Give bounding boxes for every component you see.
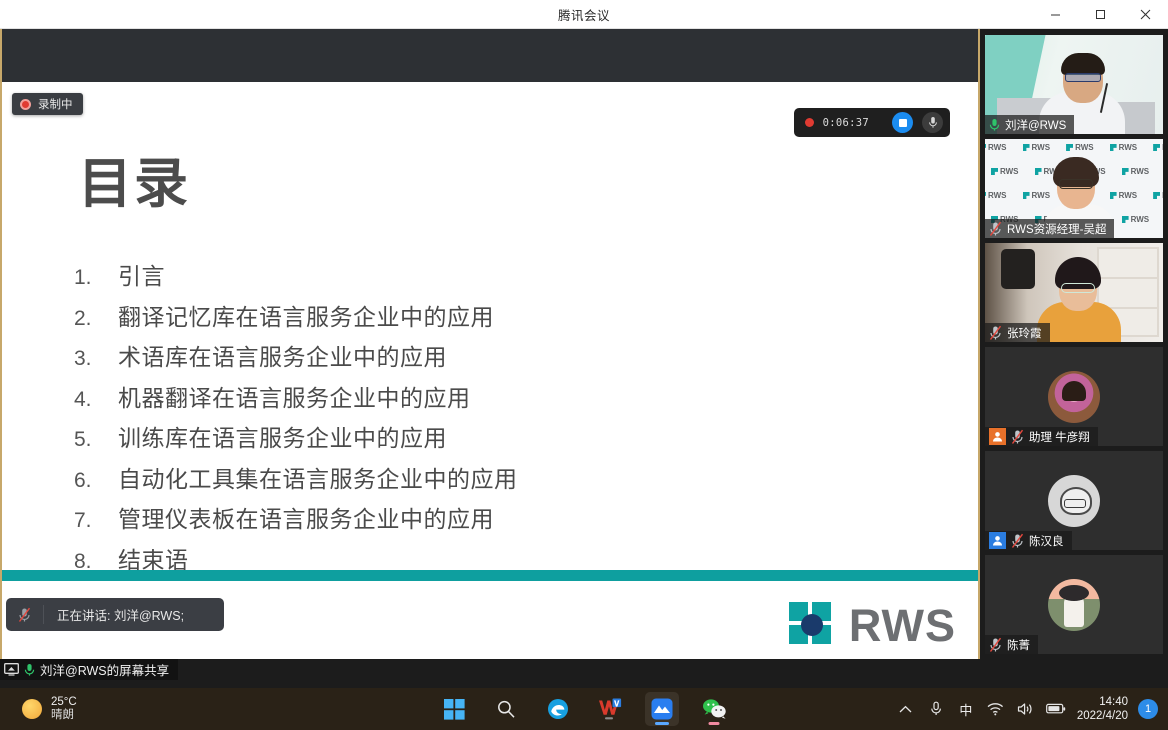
- windows-taskbar[interactable]: 25°C 晴朗: [0, 688, 1168, 730]
- minimize-icon: [1050, 9, 1061, 20]
- wps-button[interactable]: [593, 692, 627, 726]
- wifi-button[interactable]: [981, 688, 1011, 730]
- participant-namebar: 陈汉良: [985, 531, 1072, 550]
- edge-icon: [547, 698, 569, 720]
- minimize-button[interactable]: [1033, 0, 1078, 29]
- participant-tile[interactable]: 助理 牛彦翔: [985, 347, 1163, 446]
- close-icon: [1140, 9, 1151, 20]
- mic-muted-icon: [6, 605, 44, 624]
- tencent-meeting-icon: [650, 697, 674, 721]
- weather-condition: 晴朗: [51, 709, 77, 722]
- mic-muted-icon: [989, 221, 1002, 237]
- participant-namebar: 刘洋@RWS: [985, 115, 1074, 134]
- recorder-microphone-button[interactable]: [922, 112, 943, 133]
- clock[interactable]: 14:40 2022/4/20: [1071, 695, 1138, 723]
- microphone-icon: [930, 701, 942, 717]
- wechat-icon: [702, 698, 727, 720]
- participant-name: 陈汉良: [1029, 533, 1064, 549]
- tencent-meeting-button[interactable]: [645, 692, 679, 726]
- window-title-bar: 腾讯会议: [0, 0, 1168, 29]
- taskbar-apps[interactable]: [437, 692, 731, 726]
- screen-share-icon: [4, 663, 19, 676]
- clock-date: 2022/4/20: [1077, 709, 1128, 723]
- participant-name: 陈菁: [1007, 637, 1030, 653]
- recording-badge-label: 录制中: [38, 96, 73, 112]
- close-button[interactable]: [1123, 0, 1168, 29]
- windows-logo-icon: [444, 699, 465, 720]
- host-badge-icon: [989, 428, 1006, 445]
- participant-name: RWS资源经理-吴超: [1007, 221, 1106, 237]
- cohost-badge-icon: [989, 532, 1006, 549]
- participant-name: 助理 牛彦翔: [1029, 429, 1090, 445]
- participant-tile[interactable]: 张玲霞: [985, 243, 1163, 342]
- recording-dot-icon: [20, 99, 31, 110]
- system-tray[interactable]: 中 14:40 2022/4/20: [891, 688, 1168, 730]
- mic-muted-icon: [1011, 533, 1024, 549]
- mic-muted-icon: [989, 325, 1002, 341]
- search-button[interactable]: [489, 692, 523, 726]
- mic-muted-icon: [1011, 429, 1024, 445]
- avatar: [1048, 579, 1100, 631]
- maximize-button[interactable]: [1078, 0, 1123, 29]
- notification-badge[interactable]: 1: [1138, 699, 1158, 719]
- recorder-toolbar[interactable]: 0:06:37: [794, 108, 950, 137]
- microphone-on-icon: [989, 118, 1000, 132]
- participant-tile[interactable]: 陈菁: [985, 555, 1163, 654]
- recording-indicator-icon: [805, 118, 814, 127]
- battery-button[interactable]: [1041, 688, 1071, 730]
- search-icon: [496, 699, 516, 719]
- maximize-icon: [1095, 9, 1106, 20]
- active-speaker-label: 正在讲话: 刘洋@RWS;: [44, 605, 184, 624]
- participant-namebar: 助理 牛彦翔: [985, 427, 1098, 446]
- avatar: [1048, 475, 1100, 527]
- start-button[interactable]: [437, 692, 471, 726]
- screen-share-label: 刘洋@RWS的屏幕共享: [40, 660, 169, 679]
- show-hidden-icons-button[interactable]: [891, 688, 921, 730]
- participant-namebar: 张玲霞: [985, 323, 1050, 342]
- tray-microphone-button[interactable]: [921, 688, 951, 730]
- participant-namebar: RWS资源经理-吴超: [985, 219, 1114, 238]
- chevron-up-icon: [899, 705, 912, 714]
- microphone-icon: [928, 116, 938, 129]
- weather-temperature: 25°C: [51, 696, 77, 709]
- wifi-icon: [987, 702, 1004, 716]
- meeting-window: 录制中 目录 1. 引言 2. 翻译记忆库在语言服务企业中的应用 3. 术语库在…: [0, 29, 1168, 688]
- screen-share-banner: 刘洋@RWS的屏幕共享: [0, 659, 980, 688]
- clock-time: 14:40: [1077, 695, 1128, 709]
- mic-muted-icon: [989, 637, 1002, 653]
- participant-rail[interactable]: 刘洋@RWS RWSRWS RWSRWS RWS RWSRWS RWSRWS R…: [980, 29, 1168, 688]
- participant-name: 张玲霞: [1007, 325, 1042, 341]
- wps-office-icon: [598, 698, 622, 720]
- weather-widget[interactable]: 25°C 晴朗: [0, 696, 250, 722]
- window-controls: [1033, 0, 1168, 29]
- shared-screen-stage[interactable]: 录制中 目录 1. 引言 2. 翻译记忆库在语言服务企业中的应用 3. 术语库在…: [0, 29, 980, 659]
- wechat-button[interactable]: [697, 692, 731, 726]
- avatar: [1048, 371, 1100, 423]
- participant-namebar: 陈菁: [985, 635, 1038, 654]
- recording-timer: 0:06:37: [823, 117, 869, 129]
- participant-tile[interactable]: RWSRWS RWSRWS RWS RWSRWS RWSRWS RWS RWSR…: [985, 139, 1163, 238]
- participant-tile[interactable]: 陈汉良: [985, 451, 1163, 550]
- sun-icon: [22, 699, 42, 719]
- participant-name: 刘洋@RWS: [1005, 117, 1066, 133]
- recording-badge: 录制中: [12, 93, 83, 115]
- ime-indicator[interactable]: 中: [951, 688, 981, 730]
- volume-button[interactable]: [1011, 688, 1041, 730]
- window-title: 腾讯会议: [558, 5, 610, 24]
- microphone-on-icon: [24, 663, 35, 677]
- battery-icon: [1046, 703, 1066, 715]
- participant-tile[interactable]: 刘洋@RWS: [985, 35, 1163, 134]
- active-speaker-toast: 正在讲话: 刘洋@RWS;: [6, 598, 224, 631]
- volume-icon: [1017, 702, 1034, 716]
- screen-share-pill: 刘洋@RWS的屏幕共享: [0, 659, 178, 680]
- stop-recording-button[interactable]: [892, 112, 913, 133]
- edge-button[interactable]: [541, 692, 575, 726]
